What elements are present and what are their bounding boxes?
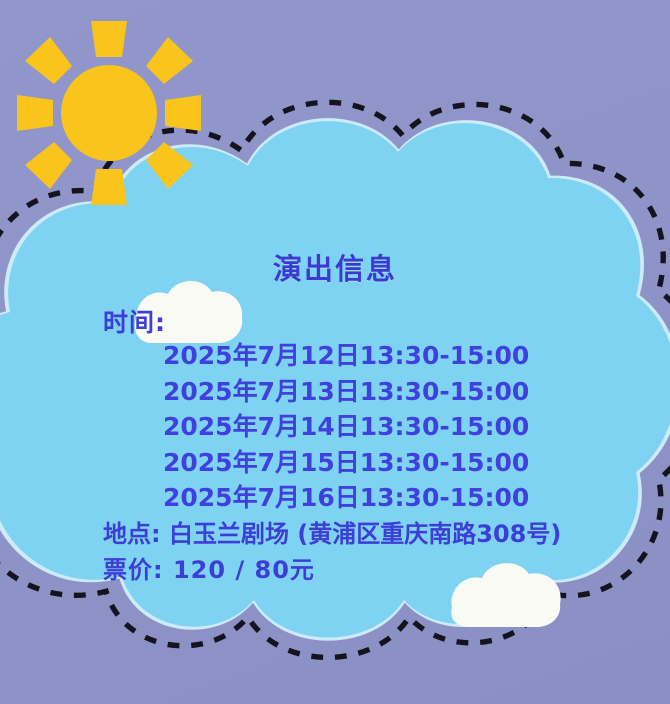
poster-canvas: 演出信息 时间: 2025年7月12日13:30-15:00 2025年7月13… [0,0,670,704]
sun-icon [0,0,670,704]
